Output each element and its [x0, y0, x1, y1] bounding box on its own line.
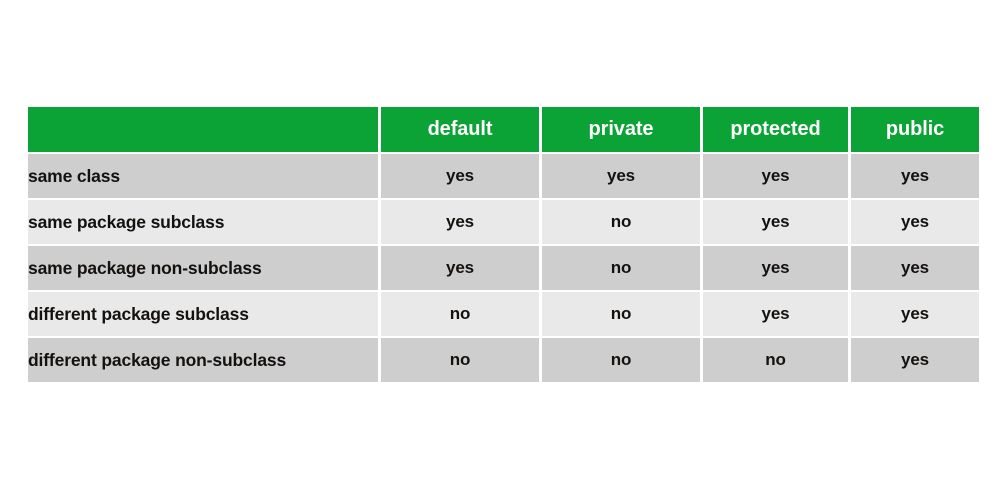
cell-same-class-default: yes	[381, 154, 539, 198]
cell-same-package-subclass-public: yes	[851, 200, 979, 244]
cell-different-package-non-subclass-default: no	[381, 338, 539, 382]
cell-same-package-non-subclass-protected: yes	[703, 246, 848, 290]
cell-same-package-non-subclass-default: yes	[381, 246, 539, 290]
header-cell-scope	[28, 107, 378, 152]
cell-different-package-subclass-public: yes	[851, 292, 979, 336]
table-row: same class yes yes yes yes	[28, 154, 979, 198]
header-cell-default: default	[381, 107, 539, 152]
cell-different-package-subclass-default: no	[381, 292, 539, 336]
header-cell-protected: protected	[703, 107, 848, 152]
row-label-same-package-non-subclass: same package non-subclass	[28, 246, 378, 290]
cell-same-package-subclass-private: no	[542, 200, 700, 244]
table-row: same package non-subclass yes no yes yes	[28, 246, 979, 290]
header-cell-public: public	[851, 107, 979, 152]
row-label-same-package-subclass: same package subclass	[28, 200, 378, 244]
cell-different-package-non-subclass-protected: no	[703, 338, 848, 382]
cell-different-package-non-subclass-public: yes	[851, 338, 979, 382]
cell-same-class-protected: yes	[703, 154, 848, 198]
cell-same-class-private: yes	[542, 154, 700, 198]
cell-different-package-subclass-protected: yes	[703, 292, 848, 336]
cell-same-package-subclass-protected: yes	[703, 200, 848, 244]
access-modifier-table: default private protected public same cl…	[25, 105, 982, 384]
cell-different-package-non-subclass-private: no	[542, 338, 700, 382]
header-cell-private: private	[542, 107, 700, 152]
row-label-different-package-non-subclass: different package non-subclass	[28, 338, 378, 382]
cell-same-package-non-subclass-public: yes	[851, 246, 979, 290]
cell-same-class-public: yes	[851, 154, 979, 198]
cell-same-package-subclass-default: yes	[381, 200, 539, 244]
cell-different-package-subclass-private: no	[542, 292, 700, 336]
table-header-row: default private protected public	[28, 107, 979, 152]
table-row: same package subclass yes no yes yes	[28, 200, 979, 244]
cell-same-package-non-subclass-private: no	[542, 246, 700, 290]
table-row: different package subclass no no yes yes	[28, 292, 979, 336]
table-row: different package non-subclass no no no …	[28, 338, 979, 382]
row-label-same-class: same class	[28, 154, 378, 198]
row-label-different-package-subclass: different package subclass	[28, 292, 378, 336]
